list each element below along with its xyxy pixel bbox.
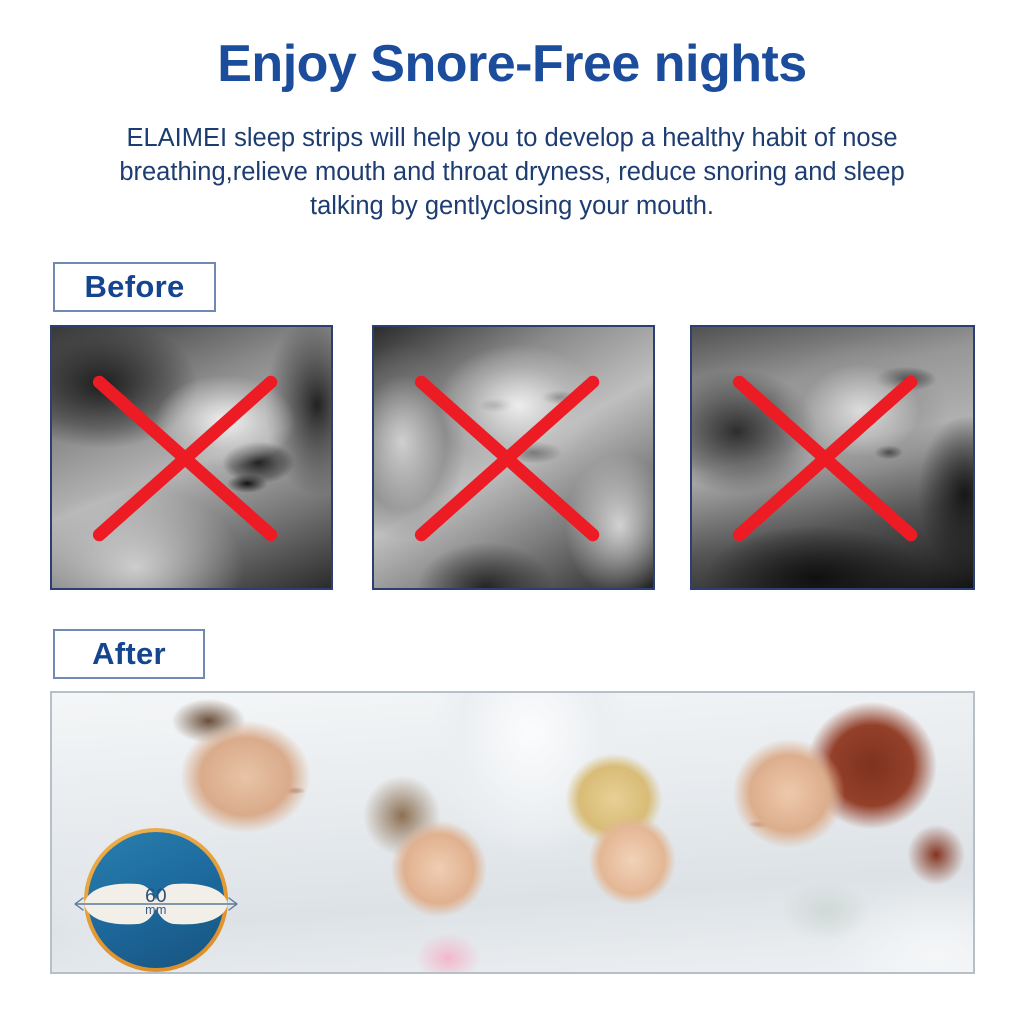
before-photo-2 bbox=[372, 325, 655, 590]
page-title: Enjoy Snore-Free nights bbox=[0, 36, 1024, 92]
size-badge: 60 mm bbox=[84, 828, 228, 972]
section-label-after: After bbox=[53, 629, 205, 679]
before-photo-row bbox=[50, 325, 975, 590]
section-label-before-text: Before bbox=[85, 269, 185, 305]
badge-size-value: 60 mm bbox=[84, 888, 228, 917]
red-cross-icon bbox=[52, 327, 331, 588]
red-cross-icon bbox=[692, 327, 973, 588]
red-cross-icon bbox=[374, 327, 653, 588]
section-label-after-text: After bbox=[92, 636, 166, 672]
before-photo-3 bbox=[690, 325, 975, 590]
page-subtitle: ELAIMEI sleep strips will help you to de… bbox=[86, 122, 938, 224]
after-photo: 60 mm bbox=[50, 691, 975, 974]
badge-size-unit: mm bbox=[84, 905, 228, 917]
section-label-before: Before bbox=[53, 262, 216, 312]
before-photo-1 bbox=[50, 325, 333, 590]
